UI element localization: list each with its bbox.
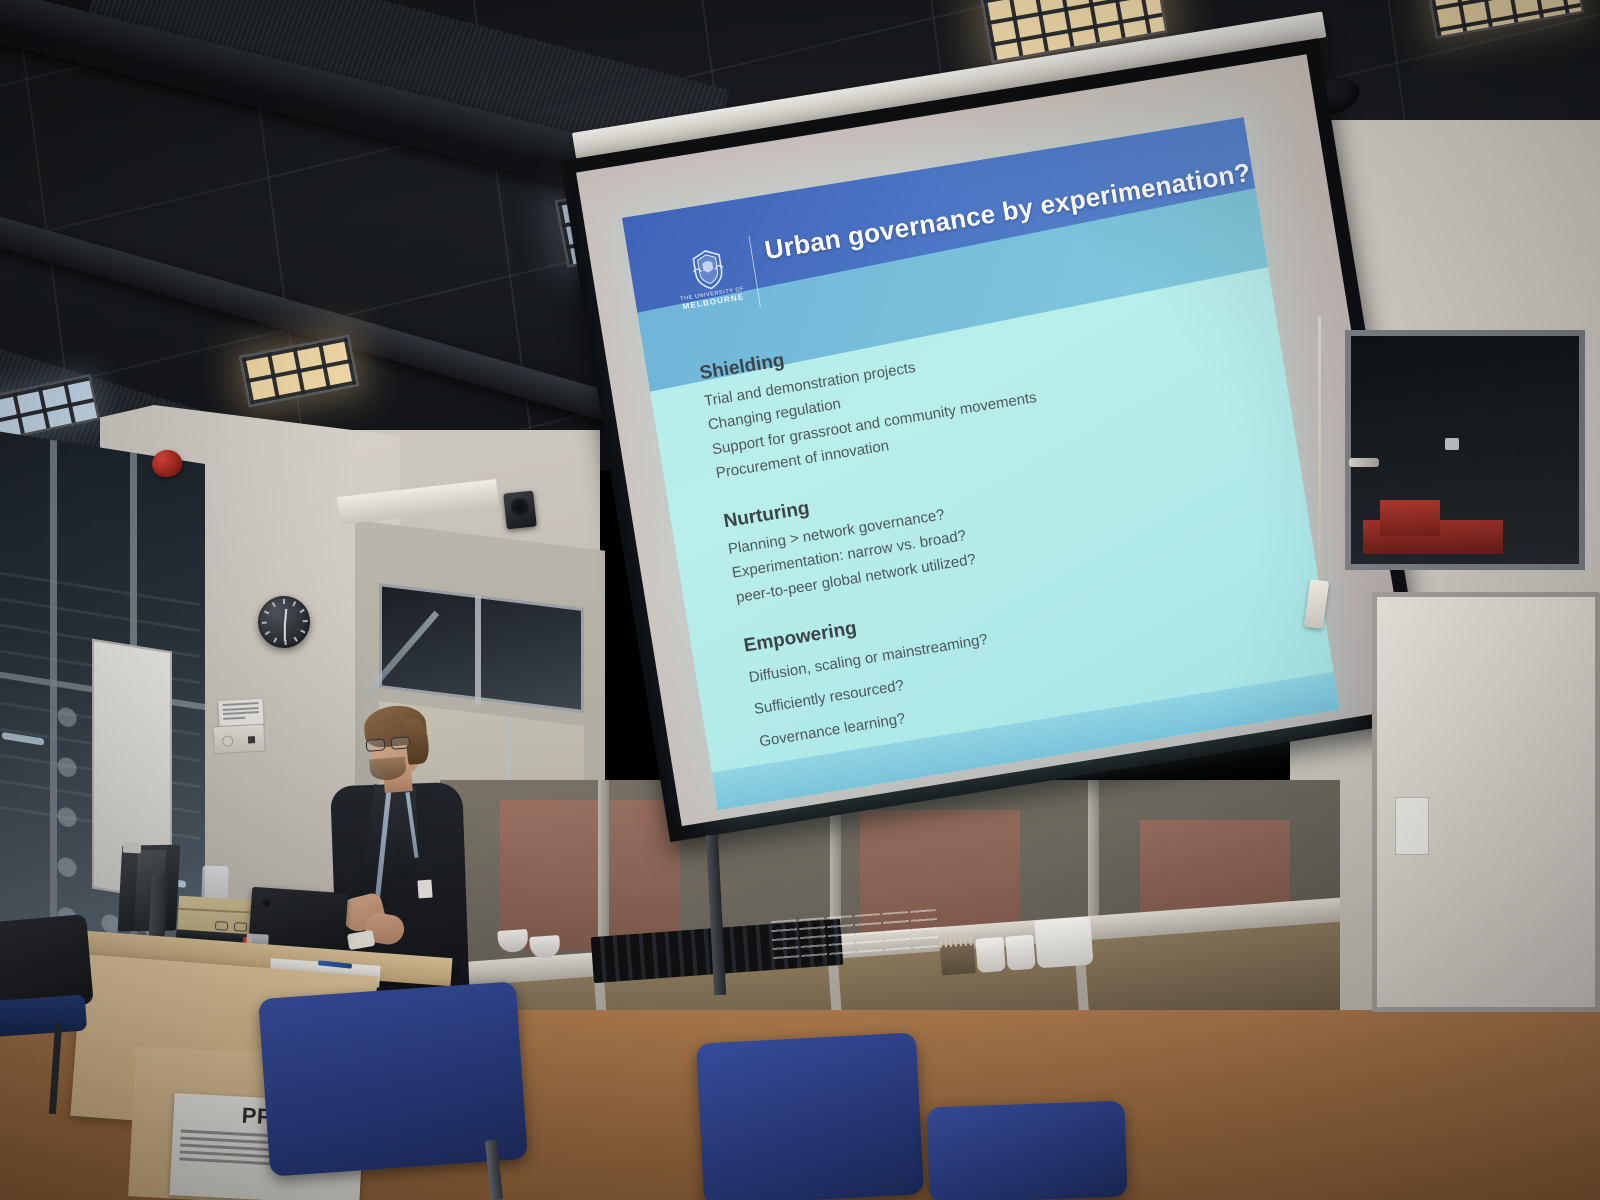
clock-minute-hand	[284, 623, 286, 641]
university-of-melbourne-logo: THE UNIVERSITY OF MELBOURNE	[665, 235, 754, 321]
door-sign	[1395, 797, 1429, 855]
hanging-cable	[1318, 316, 1321, 586]
partition-window-upper	[379, 583, 584, 713]
screen-surface: THE UNIVERSITY OF MELBOURNE Urban govern…	[576, 54, 1412, 826]
room-scene: THE UNIVERSITY OF MELBOURNE Urban govern…	[0, 0, 1600, 1200]
wall-notice	[218, 699, 263, 727]
chair-blue-3[interactable]	[926, 1101, 1127, 1200]
panel-indicator	[248, 736, 255, 743]
presenter-pocket-square	[417, 880, 432, 899]
right-door[interactable]	[1372, 592, 1600, 1012]
partition-mullion	[475, 595, 481, 706]
monitor-clip	[123, 843, 141, 854]
panel-knob[interactable]	[222, 735, 234, 747]
clock-hour-hand	[284, 609, 288, 623]
wall-control-panel[interactable]	[212, 724, 265, 755]
projector-screen: THE UNIVERSITY OF MELBOURNE Urban govern…	[560, 125, 1340, 885]
chair-dark-seat[interactable]	[0, 995, 87, 1038]
red-shelf-object	[1380, 500, 1440, 536]
projected-slide: THE UNIVERSITY OF MELBOURNE Urban govern…	[622, 117, 1340, 810]
window-handle[interactable]	[1349, 458, 1379, 467]
chair-blue-2[interactable]	[696, 1032, 924, 1200]
window-fixture	[1445, 438, 1459, 450]
crest-icon	[688, 247, 728, 292]
wall-mounted-speaker	[503, 491, 537, 530]
eyeglasses-on-desk-icon	[215, 921, 250, 934]
